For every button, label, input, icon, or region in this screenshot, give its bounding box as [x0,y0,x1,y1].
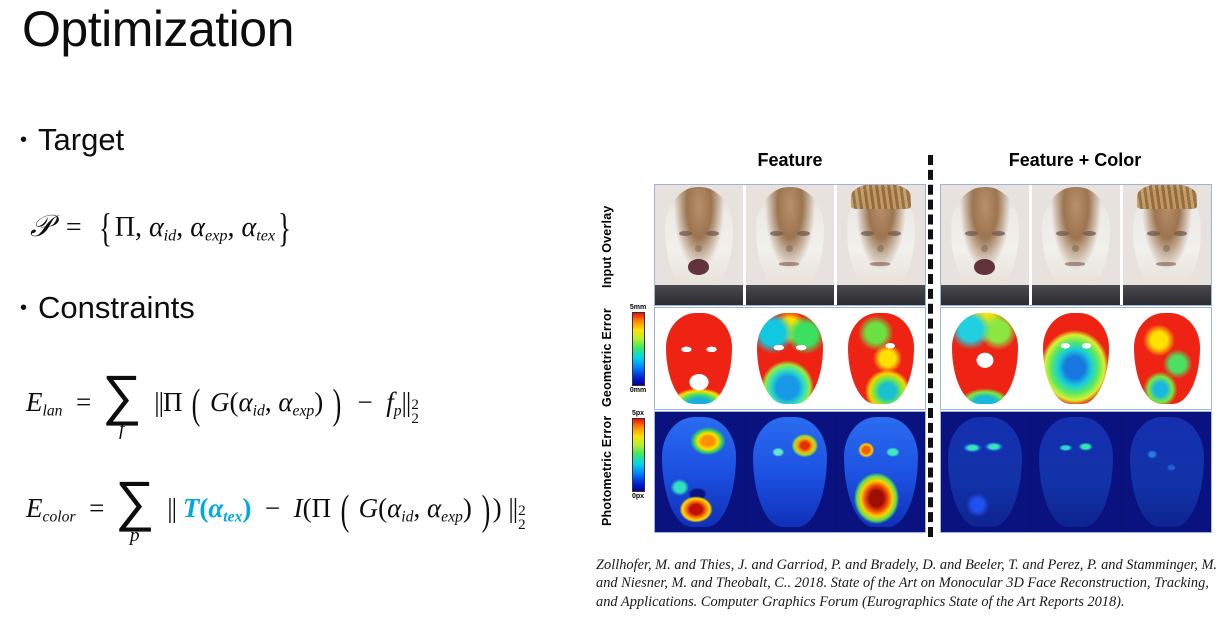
panel-photometric-error [655,412,743,532]
panel-overlay [746,185,834,305]
bullet-constraints-label: Constraints [38,290,195,326]
error-map-image [753,417,827,527]
equation-color-energy: Ecolor = ∑ p || T(αtex) − I(Π ( G(αid, α… [26,478,526,544]
equation-parameters: 𝒫 = {Π, αid, αexp, αtex} [30,205,294,251]
equation-landmark-energy: Elan = ∑ f ||Π ( G(αid, αexp) ) − fp||22 [26,372,419,438]
row-label-geometric-error: Geometric Error [600,308,614,408]
page-title: Optimization [22,2,294,57]
bullet-marker-icon: • [20,130,27,150]
colorbar-geometric: 5mm 0mm [622,304,654,394]
panel-geometric-error [941,308,1029,409]
eye-left-icon [861,231,874,236]
error-map-image [1043,313,1108,404]
bullet-target-label: Target [38,122,124,158]
panel-geometric-error [655,308,743,409]
bullet-constraints: • Constraints [20,290,195,326]
panel-photometric-error [941,412,1029,532]
eye-left-icon [770,231,783,236]
mouth-icon [1065,262,1084,266]
column-header-feature: Feature [655,150,925,171]
panel-geometric-error [1123,308,1211,409]
panel-overlay [1123,185,1211,305]
colorbar-photometric-min: 0px [632,493,644,500]
panel-overlay [655,185,743,305]
nose-icon [1072,245,1079,252]
error-map-image [662,417,736,527]
mouth-icon [870,262,889,266]
eye-left-icon [1147,231,1160,236]
eye-right-icon [1174,231,1187,236]
nose-icon [981,245,988,252]
hair-icon [1137,185,1197,209]
row-input-overlay [654,184,926,306]
error-map-image [844,417,918,527]
nose-icon [877,245,884,252]
row-photometric-error [940,411,1212,533]
error-map-image [757,313,822,404]
summation-symbol: ∑ p [115,480,154,546]
results-figure: Feature Feature + Color Input Overlay Ge… [596,150,1216,542]
row-input-overlay [940,184,1212,306]
eye-right-icon [992,231,1005,236]
error-map-image [848,313,913,404]
error-map-image [1039,417,1113,527]
panel-overlay [941,185,1029,305]
mouth-icon [1156,262,1175,266]
panel-geometric-error [837,308,925,409]
eye-right-icon [797,231,810,236]
row-geometric-error [654,307,926,410]
panel-photometric-error [837,412,925,532]
citation-text: Zollhofer, M. and Thies, J. and Garriod,… [596,556,1222,611]
error-map-image [952,313,1017,404]
accent-texture-term: T(αtex) [183,493,252,523]
panel-overlay [837,185,925,305]
eye-left-icon [965,231,978,236]
colorbar-geometric-gradient [632,312,645,386]
figure-column-headers: Feature Feature + Color [596,150,1216,180]
colorbar-photometric-gradient [632,418,645,492]
error-map-image [666,313,731,404]
eye-right-icon [1083,231,1096,236]
mouth-icon [688,259,709,275]
eye-right-icon [888,231,901,236]
panel-photometric-error [1032,412,1120,532]
summation-symbol: ∑ f [102,374,141,440]
panel-geometric-error [1032,308,1120,409]
colorbar-geometric-max: 5mm [630,304,646,311]
nose-icon [1163,245,1170,252]
eye-right-icon [706,231,719,236]
colorbar-geometric-min: 0mm [630,387,646,394]
figure-divider [928,155,933,537]
bullet-target: • Target [20,122,124,158]
row-photometric-error [654,411,926,533]
eye-left-icon [679,231,692,236]
colorbar-photometric: 5px 0px [622,410,654,500]
row-label-photometric-error: Photometric Error [600,412,614,530]
column-header-feature-color: Feature + Color [940,150,1210,171]
bullet-marker-icon: • [20,298,27,318]
panel-geometric-error [746,308,834,409]
row-label-input-overlay: Input Overlay [600,188,614,306]
panel-overlay [1032,185,1120,305]
error-map-image [1134,313,1199,404]
nose-icon [695,245,702,252]
error-map-image [1130,417,1204,527]
eye-left-icon [1056,231,1069,236]
panel-photometric-error [1123,412,1211,532]
row-geometric-error [940,307,1212,410]
mouth-icon [974,259,995,275]
hair-icon [851,185,911,209]
colorbar-photometric-max: 5px [632,410,644,417]
mouth-icon [779,262,798,266]
error-map-image [948,417,1022,527]
nose-icon [786,245,793,252]
panel-photometric-error [746,412,834,532]
